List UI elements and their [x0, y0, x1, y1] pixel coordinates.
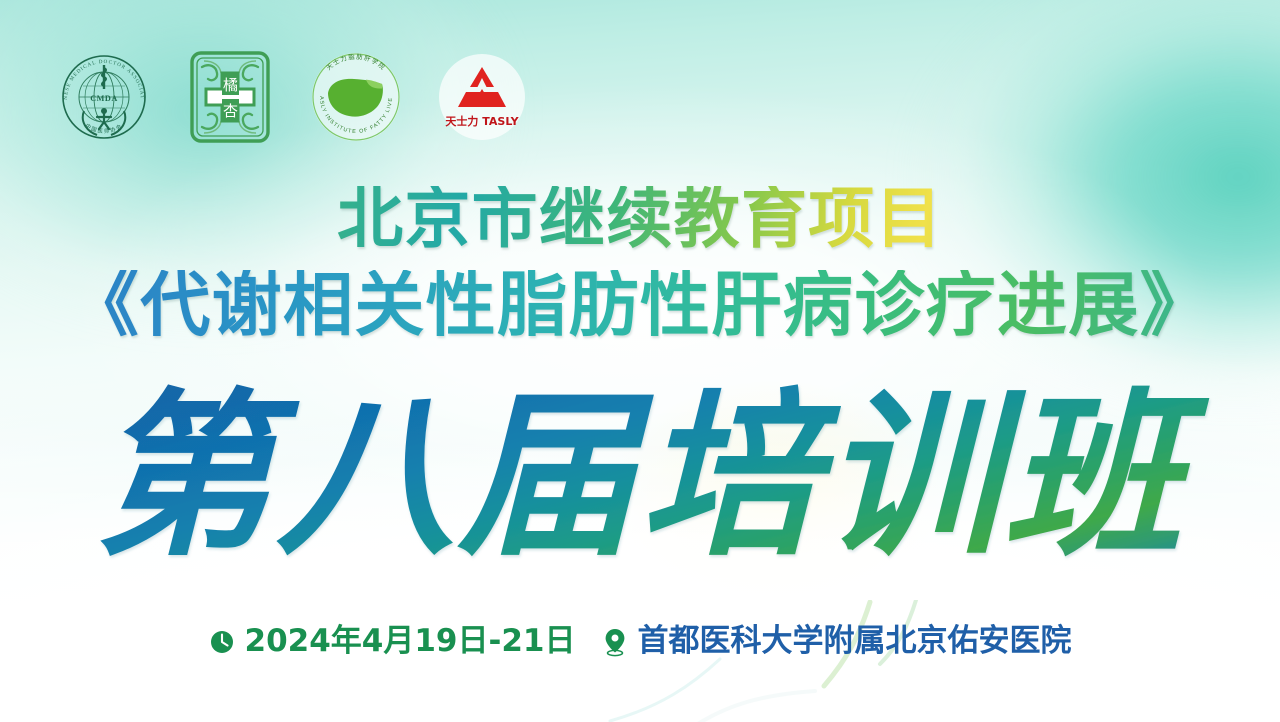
- location-pin-icon: [602, 627, 628, 657]
- tasly-wordmark: 天士力 TASLY: [445, 114, 519, 128]
- seal-character-2: 杏: [223, 102, 238, 120]
- headline-line-2: 《代谢相关性脂肪性肝病诊疗进展》: [0, 270, 1280, 340]
- event-info-bar: 2024年4月19日-21日 首都医科大学附属北京佑安医院: [0, 626, 1280, 657]
- event-venue-item: 首都医科大学附属北京佑安医院: [602, 626, 1072, 657]
- event-date-item: 2024年4月19日-21日: [209, 626, 576, 657]
- cmda-logo-icon: CMDA CHINESE MEDICAL DOCTOR ASSOCIATION …: [52, 45, 156, 149]
- event-venue-text: 首都医科大学附属北京佑安医院: [638, 626, 1072, 657]
- decorative-brush-stroke-right: [720, 600, 940, 720]
- event-poster: CMDA CHINESE MEDICAL DOCTOR ASSOCIATION …: [0, 0, 1280, 722]
- headline-block: 北京市继续教育项目 《代谢相关性脂肪性肝病诊疗进展》: [0, 186, 1280, 340]
- seal-character-1: 橘: [223, 76, 238, 94]
- tasly-institute-fatty-liver-logo-icon: 天士力脂肪肝学院 TASLY INSTITUTE OF FATTY LIVER: [304, 45, 408, 149]
- cmda-acronym: CMDA: [90, 94, 117, 103]
- event-date-text: 2024年4月19日-21日: [245, 626, 576, 657]
- headline-line-1: 北京市继续教育项目: [0, 186, 1280, 252]
- tasly-brand-logo-icon: 天士力 TASLY: [430, 45, 534, 149]
- main-title-calligraphy: 第八届培训班: [0, 388, 1280, 603]
- green-seal-logo-icon: 橘 杏: [178, 45, 282, 149]
- logo-row: CMDA CHINESE MEDICAL DOCTOR ASSOCIATION …: [52, 45, 534, 149]
- clock-icon: [209, 627, 235, 657]
- main-title-text: 第八届培训班: [94, 371, 1210, 580]
